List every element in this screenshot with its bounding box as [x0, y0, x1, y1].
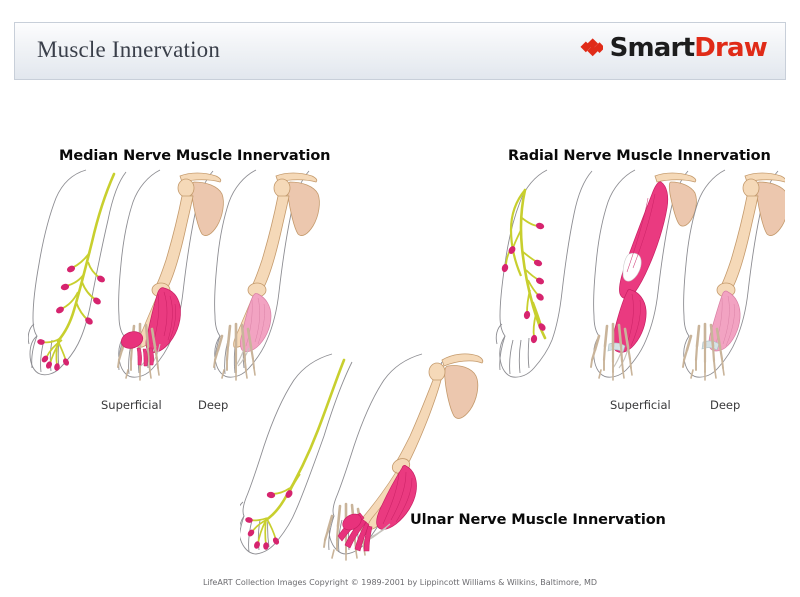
slide-canvas: Muscle Innervation SmartDraw Median Nerv…	[0, 0, 800, 597]
figure-group-radial	[495, 168, 785, 393]
brand-text-smart: Smart	[610, 33, 695, 63]
median-superficial-figure	[118, 170, 223, 380]
label-radial-superficial: Superficial	[610, 398, 671, 412]
copyright-notice: LifeART Collection Images Copyright © 19…	[0, 578, 800, 587]
figure-group-ulnar	[240, 352, 490, 572]
label-median-deep: Deep	[198, 398, 228, 412]
radial-nerve-pathway-figure	[496, 170, 592, 377]
median-nerve-pathway-figure	[28, 170, 126, 375]
radial-deep-figure	[683, 170, 785, 380]
ulnar-muscle-figure	[324, 354, 483, 560]
radial-superficial-figure	[591, 170, 696, 380]
smartdraw-logo[interactable]: SmartDraw	[577, 35, 767, 61]
brand-text-draw: Draw	[694, 33, 767, 63]
page-title: Muscle Innervation	[37, 37, 220, 63]
median-deep-figure	[214, 170, 319, 380]
label-median-superficial: Superficial	[101, 398, 162, 412]
section-heading-radial: Radial Nerve Muscle Innervation	[508, 148, 771, 164]
section-heading-median: Median Nerve Muscle Innervation	[59, 148, 330, 164]
label-radial-deep: Deep	[710, 398, 740, 412]
header-bar: Muscle Innervation SmartDraw	[14, 22, 786, 80]
smartdraw-diamond-icon	[577, 35, 603, 61]
